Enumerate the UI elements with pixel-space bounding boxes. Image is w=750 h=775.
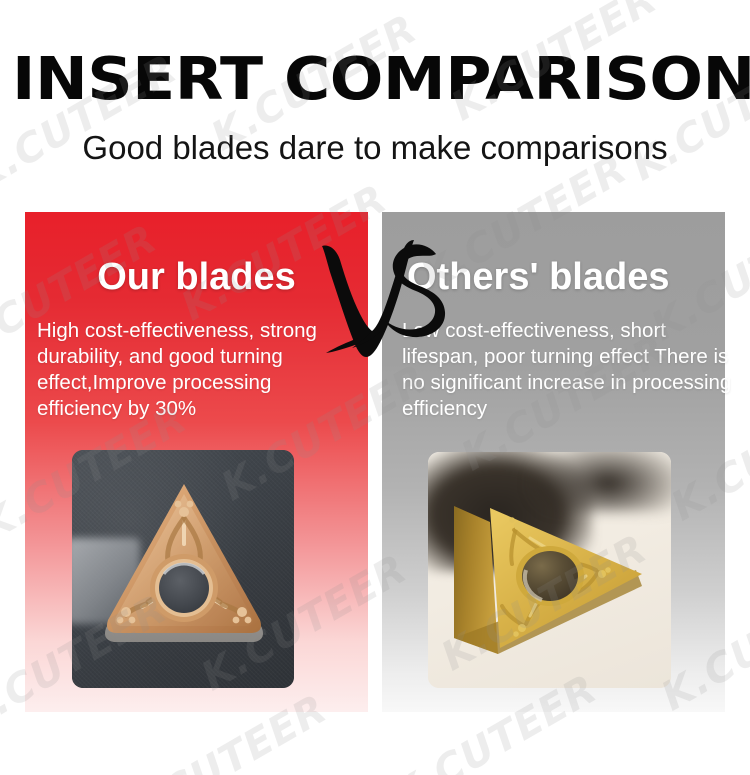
others-blades-photo-card (428, 452, 671, 688)
our-blades-photo-card (72, 450, 294, 688)
triangular-insert-icon (446, 478, 650, 662)
yellow-insert-image (446, 478, 650, 662)
poster-header: INSERT COMPARISON Good blades dare to ma… (0, 0, 750, 200)
page-subtitle: Good blades dare to make comparisons (0, 128, 750, 168)
vs-icon (318, 236, 446, 361)
our-blades-heading: Our blades (25, 254, 368, 300)
page-title: INSERT COMPARISON (12, 48, 750, 110)
gold-insert-image (86, 470, 282, 670)
others-blades-description: Low cost-effectiveness, short lifespan, … (402, 318, 732, 422)
triangular-insert-icon (86, 470, 282, 670)
vs-brush-icon (318, 236, 446, 361)
insert-comparison-poster: INSERT COMPARISON Good blades dare to ma… (0, 0, 750, 775)
our-blades-description: High cost-effectiveness, strong durabili… (37, 318, 362, 422)
